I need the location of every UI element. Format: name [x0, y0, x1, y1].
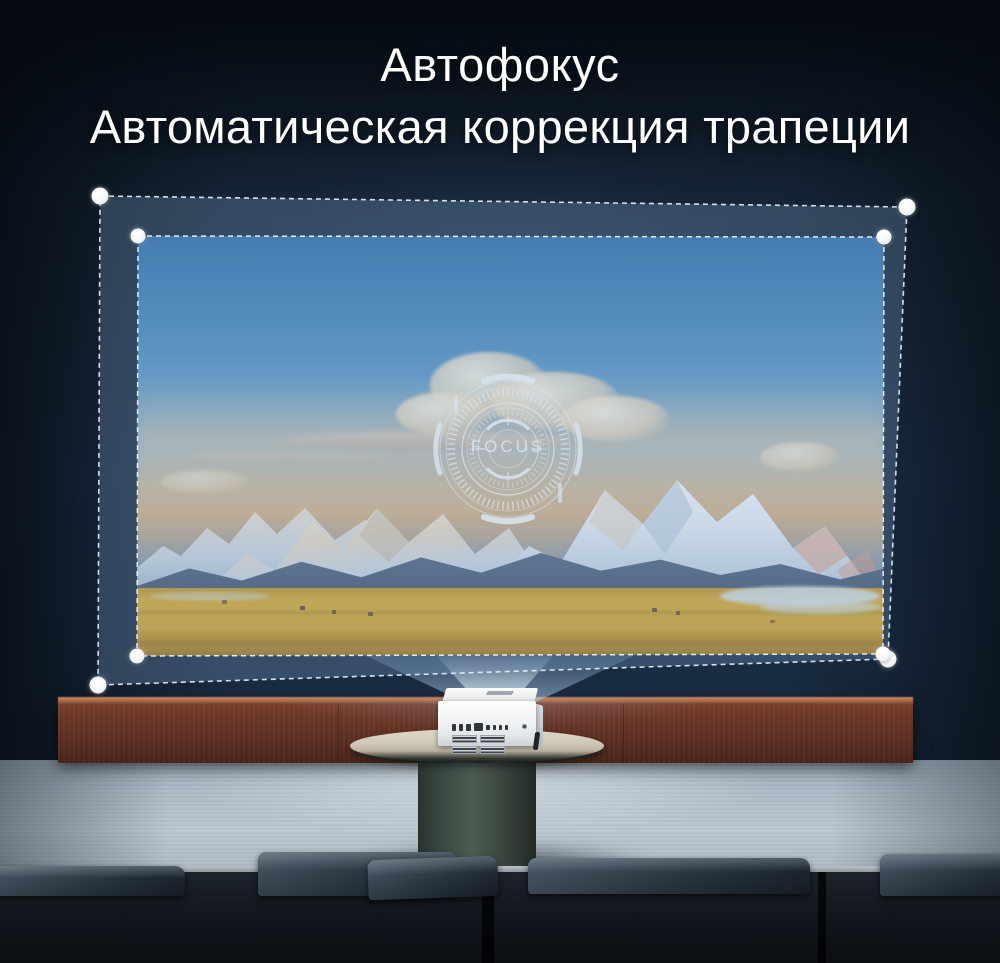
- handle-inner-bottom-right[interactable]: [876, 647, 891, 662]
- grazing-animal: [368, 612, 373, 616]
- handle-outer-top-left[interactable]: [92, 188, 109, 205]
- handle-inner-top-right[interactable]: [877, 230, 892, 245]
- cushion-highlight: [367, 856, 497, 877]
- projector-vent: [480, 735, 505, 743]
- projector-port: [505, 725, 508, 730]
- projector-sensor-icon: [522, 724, 527, 729]
- grazing-animal: [332, 610, 336, 614]
- heading-line-1: Автофокус: [0, 40, 1000, 89]
- handle-outer-top-right[interactable]: [899, 199, 916, 216]
- grazing-animal: [300, 606, 305, 610]
- grass-shadow-band: [137, 640, 885, 646]
- snow-patch: [760, 600, 880, 614]
- projector-body: [438, 701, 536, 746]
- handle-inner-top-left[interactable]: [131, 229, 146, 244]
- cloud: [396, 392, 492, 436]
- projector-port: [499, 725, 502, 730]
- grass-band: [137, 626, 885, 630]
- grazing-animal: [652, 608, 657, 612]
- projector-port: [493, 725, 496, 730]
- projector-brand-mark: [486, 691, 514, 695]
- heading-block: Автофокус Автоматическая коррекция трапе…: [0, 0, 1000, 154]
- grazing-animal: [676, 611, 680, 615]
- grazing-animal: [770, 620, 775, 623]
- projector-port: [486, 725, 490, 730]
- projector-port: [459, 724, 463, 731]
- cloud: [560, 396, 670, 442]
- sofa-seam: [818, 872, 826, 963]
- projector-port-row: [452, 723, 526, 731]
- scene-root: FOCUS Автофо: [0, 0, 1000, 963]
- sofa-cushion: [880, 854, 1000, 896]
- cushion-highlight: [880, 854, 1000, 871]
- projector-vent: [480, 746, 505, 754]
- handle-outer-bottom-left[interactable]: [90, 677, 107, 694]
- handle-inner-bottom-left[interactable]: [130, 649, 145, 664]
- cushion-highlight: [0, 866, 185, 878]
- cushion-highlight: [528, 858, 810, 872]
- projector-port: [452, 724, 456, 731]
- heading-line-2: Автоматическая коррекция трапеции: [0, 101, 1000, 154]
- sofa-cushion: [0, 866, 185, 896]
- snow-patch: [150, 592, 270, 600]
- projector-vent: [452, 746, 477, 754]
- projector-vent: [452, 735, 477, 743]
- projector-hdmi-port: [474, 723, 483, 731]
- lenticular-cloud: [280, 432, 570, 450]
- sofa-cushion: [367, 856, 498, 901]
- sofa-cushion: [528, 858, 810, 894]
- projector-port: [466, 724, 471, 731]
- grazing-animal: [222, 600, 227, 604]
- projector-device[interactable]: [438, 688, 542, 748]
